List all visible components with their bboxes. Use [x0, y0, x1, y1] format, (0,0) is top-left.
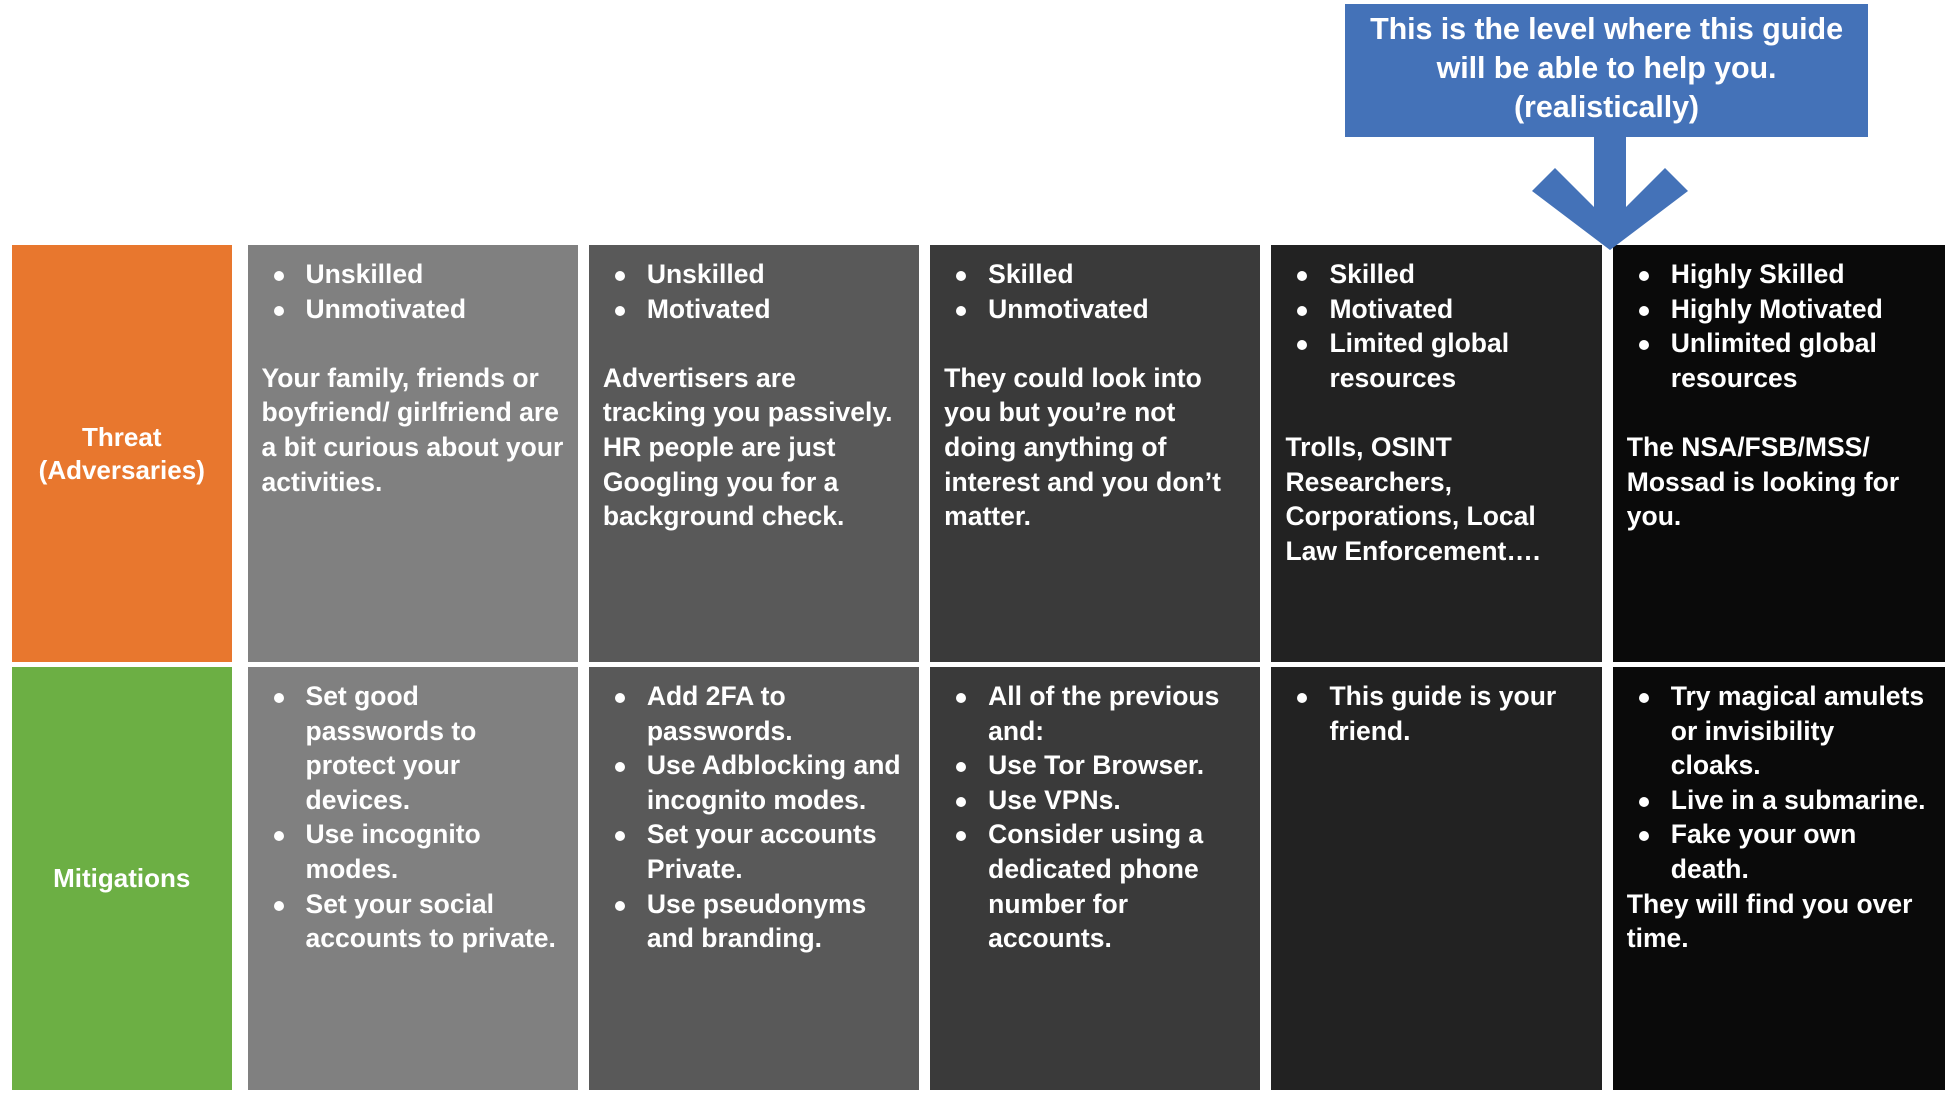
mitigations-cell-column-2: Add 2FA to passwords. Use Adblocking and…	[589, 667, 919, 1090]
list-item: Use pseudonyms and branding.	[603, 887, 905, 956]
list-item: Unskilled	[603, 257, 905, 292]
row-label-mitigations: Mitigations	[12, 667, 232, 1090]
list-item: Motivated	[1285, 292, 1587, 327]
threat-cell-column-4: Skilled Motivated Limited global resourc…	[1271, 245, 1601, 662]
threat-paragraph-column-2: Advertisers are tracking you passively. …	[603, 361, 905, 534]
list-item: Limited global resources	[1285, 326, 1587, 395]
callout-box: This is the level where this guide will …	[1345, 4, 1868, 137]
list-item: Highly Skilled	[1627, 257, 1931, 292]
callout-group: This is the level where this guide will …	[1345, 0, 1885, 250]
list-item: Skilled	[944, 257, 1246, 292]
list-item: Use incognito modes.	[262, 817, 564, 886]
list-item: Use Adblocking and incognito modes.	[603, 748, 905, 817]
list-item: Unskilled	[262, 257, 564, 292]
list-item: Highly Motivated	[1627, 292, 1931, 327]
list-item: Set your social accounts to private.	[262, 887, 564, 956]
threat-cell-column-3: Skilled Unmotivated They could look into…	[930, 245, 1260, 662]
list-item: Use Tor Browser.	[944, 748, 1246, 783]
threat-bullets-column-4: Skilled Motivated Limited global resourc…	[1285, 257, 1587, 395]
threat-paragraph-column-5: The NSA/FSB/MSS/ Mossad is looking for y…	[1627, 430, 1931, 534]
list-item: Set your accounts Private.	[603, 817, 905, 886]
list-item: Unmotivated	[944, 292, 1246, 327]
callout-line-2: will be able to help you.	[1437, 49, 1777, 88]
threat-bullets-column-5: Highly Skilled Highly Motivated Unlimite…	[1627, 257, 1931, 395]
callout-line-3: (realistically)	[1514, 88, 1699, 127]
list-item: Try magical amulets or invisibility cloa…	[1627, 679, 1931, 783]
mitigations-paragraph-column-5: They will find you over time.	[1627, 887, 1931, 956]
matrix-row-threat: Threat (Adversaries) Unskilled Unmotivat…	[12, 245, 1945, 662]
mitigations-bullets-column-2: Add 2FA to passwords. Use Adblocking and…	[603, 679, 905, 956]
mitigations-cell-column-4: This guide is your friend.	[1271, 667, 1601, 1090]
row-label-threat: Threat (Adversaries)	[12, 245, 232, 662]
list-item: All of the previous and:	[944, 679, 1246, 748]
threat-cell-column-5: Highly Skilled Highly Motivated Unlimite…	[1613, 245, 1945, 662]
threat-cell-column-2: Unskilled Motivated Advertisers are trac…	[589, 245, 919, 662]
list-item: Fake your own death.	[1627, 817, 1931, 886]
mitigations-bullets-column-4: This guide is your friend.	[1285, 679, 1587, 748]
threat-paragraph-column-4: Trolls, OSINT Researchers, Corporations,…	[1285, 430, 1587, 568]
threat-bullets-column-1: Unskilled Unmotivated	[262, 257, 564, 326]
list-item: Use VPNs.	[944, 783, 1246, 818]
list-item: Motivated	[603, 292, 905, 327]
list-item: Consider using a dedicated phone number …	[944, 817, 1246, 955]
threat-bullets-column-2: Unskilled Motivated	[603, 257, 905, 326]
threat-bullets-column-3: Skilled Unmotivated	[944, 257, 1246, 326]
row-label-threat-text: Threat (Adversaries)	[33, 421, 211, 487]
list-item: This guide is your friend.	[1285, 679, 1587, 748]
list-item: Skilled	[1285, 257, 1587, 292]
list-item: Set good passwords to protect your devic…	[262, 679, 564, 817]
threat-model-matrix: Threat (Adversaries) Unskilled Unmotivat…	[12, 245, 1945, 1090]
mitigations-cell-column-1: Set good passwords to protect your devic…	[248, 667, 578, 1090]
mitigations-bullets-column-1: Set good passwords to protect your devic…	[262, 679, 564, 956]
mitigations-cell-column-3: All of the previous and: Use Tor Browser…	[930, 667, 1260, 1090]
list-item: Live in a submarine.	[1627, 783, 1931, 818]
row-label-mitigations-text: Mitigations	[47, 862, 196, 895]
threat-paragraph-column-3: They could look into you but you’re not …	[944, 361, 1246, 534]
callout-line-1: This is the level where this guide	[1370, 10, 1843, 49]
list-item: Unlimited global resources	[1627, 326, 1931, 395]
matrix-row-mitigations: Mitigations Set good passwords to protec…	[12, 667, 1945, 1090]
mitigations-bullets-column-5: Try magical amulets or invisibility cloa…	[1627, 679, 1931, 887]
list-item: Unmotivated	[262, 292, 564, 327]
row-label-threat-line2: (Adversaries)	[39, 454, 205, 487]
arrow-down-icon	[1515, 134, 1705, 250]
mitigations-cell-column-5: Try magical amulets or invisibility cloa…	[1613, 667, 1945, 1090]
mitigations-bullets-column-3: All of the previous and: Use Tor Browser…	[944, 679, 1246, 956]
threat-paragraph-column-1: Your family, friends or boyfriend/ girlf…	[262, 361, 564, 499]
row-label-threat-line1: Threat	[39, 421, 205, 454]
threat-cell-column-1: Unskilled Unmotivated Your family, frien…	[248, 245, 578, 662]
list-item: Add 2FA to passwords.	[603, 679, 905, 748]
